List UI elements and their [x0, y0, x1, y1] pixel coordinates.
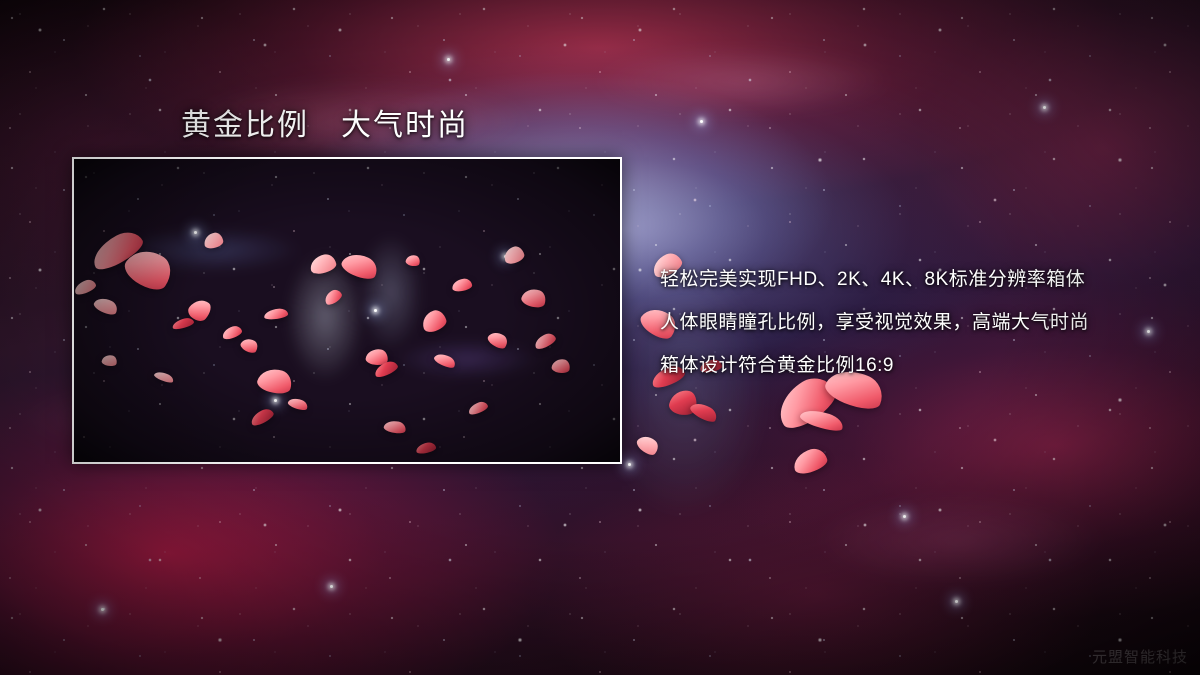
bright-star [330, 585, 333, 588]
page-title: 黄金比例 大气时尚 [181, 100, 469, 144]
presentation-slide: 黄金比例 大气时尚 轻松完美实现FHD、2K、4K、8K标准分辨率箱体 人体眼睛… [0, 0, 1200, 675]
bright-star [955, 600, 958, 603]
inner-vignette [74, 159, 620, 462]
bright-star [700, 120, 703, 123]
bright-star [628, 463, 631, 466]
watermark: 元盟智能科技 [1092, 646, 1188, 667]
bright-star [447, 58, 450, 61]
bright-star [1043, 106, 1046, 109]
description-line-3: 箱体设计符合黄金比例16:9 [660, 344, 1089, 387]
bright-star [1147, 330, 1150, 333]
bright-star [101, 608, 104, 611]
description-line-1: 轻松完美实现FHD、2K、4K、8K标准分辨率箱体 [660, 258, 1089, 301]
image-frame[interactable] [72, 157, 622, 464]
description-line-2: 人体眼睛瞳孔比例，享受视觉效果，高端大气时尚 [660, 301, 1089, 344]
bright-star [903, 515, 906, 518]
description-text: 轻松完美实现FHD、2K、4K、8K标准分辨率箱体 人体眼睛瞳孔比例，享受视觉效… [660, 258, 1089, 387]
